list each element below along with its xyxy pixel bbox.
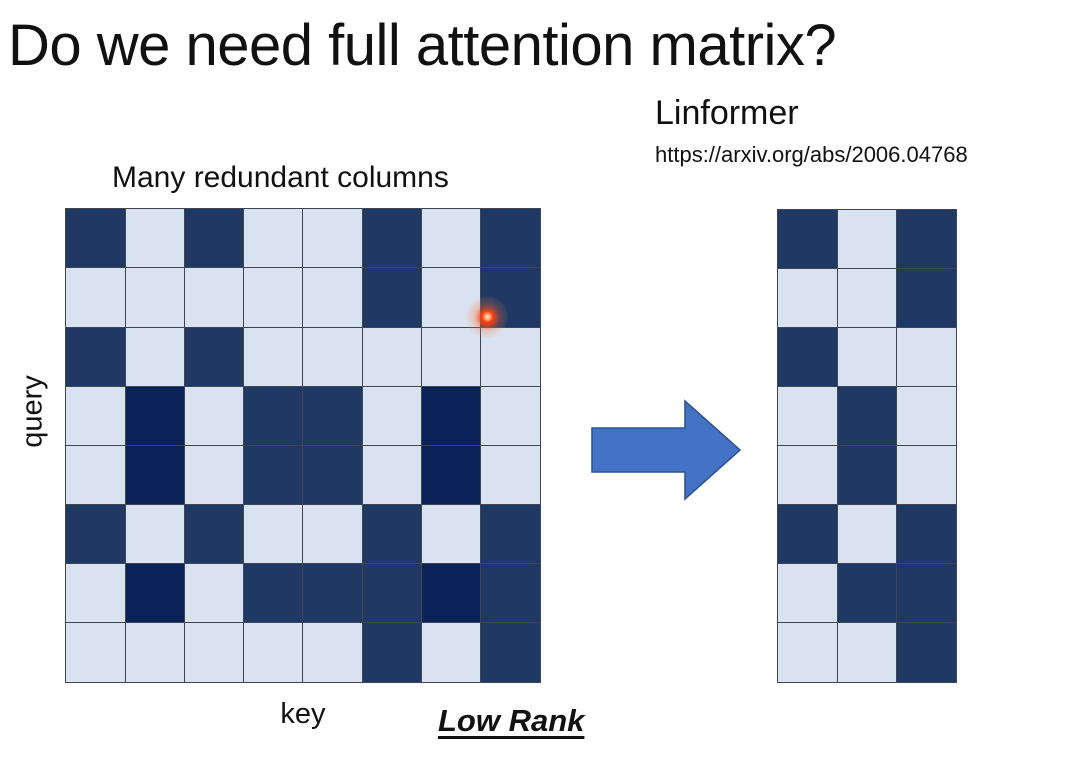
matrix-cell [125,327,186,388]
matrix-cell [896,209,957,269]
matrix-cell [896,268,957,328]
matrix-cell [302,445,363,506]
y-axis-label-query: query [17,367,50,457]
matrix-cell [184,622,245,683]
matrix-cell [302,563,363,624]
matrix-cell [65,504,126,565]
matrix-cell [243,267,304,328]
matrix-cell [184,504,245,565]
matrix-cell [777,327,838,387]
matrix-cell [243,563,304,624]
matrix-cell [302,208,363,269]
matrix-cell [243,504,304,565]
right-arrow-icon [590,398,742,502]
matrix-cell [125,267,186,328]
matrix-cell [362,327,423,388]
matrix-cell [243,327,304,388]
matrix-cell [480,445,541,506]
matrix-cell [896,504,957,564]
matrix-cell [243,208,304,269]
matrix-cell [65,386,126,447]
matrix-cell [421,386,482,447]
matrix-cell [480,386,541,447]
matrix-cell [480,622,541,683]
matrix-cell [184,208,245,269]
matrix-cell [184,327,245,388]
matrix-cell [243,386,304,447]
matrix-cell [837,504,898,564]
matrix-cell [777,504,838,564]
matrix-cell [421,563,482,624]
matrix-cell [125,504,186,565]
matrix-cell [896,563,957,623]
matrix-cell [837,445,898,505]
matrix-cell [896,622,957,682]
matrix-cell [302,622,363,683]
matrix-cell [777,386,838,446]
matrix-cell [837,386,898,446]
matrix-cell [125,563,186,624]
projected-attention-matrix [778,210,956,682]
reference-url[interactable]: https://arxiv.org/abs/2006.04768 [655,143,968,166]
matrix-cell [65,327,126,388]
matrix-cell [421,504,482,565]
matrix-cell [777,209,838,269]
matrix-cell [362,208,423,269]
matrix-cell [302,267,363,328]
matrix-cell [896,327,957,387]
matrix-cell [362,563,423,624]
matrix-cell [243,622,304,683]
matrix-cell [421,327,482,388]
matrix-cell [125,622,186,683]
matrix-cell [777,622,838,682]
matrix-cell [837,327,898,387]
matrix-cell [125,445,186,506]
matrix-cell [362,267,423,328]
matrix-cell [421,622,482,683]
matrix-cell [184,563,245,624]
matrix-cell [421,445,482,506]
matrix-cell [65,622,126,683]
matrix-cell [184,267,245,328]
matrix-cell [837,622,898,682]
matrix-cell [362,504,423,565]
matrix-cell [837,268,898,328]
matrix-cell [362,622,423,683]
matrix-cell [421,267,482,328]
low-rank-annotation: Low Rank [438,703,584,739]
matrix-cell [184,445,245,506]
matrix-cell [480,208,541,269]
matrix-cell [421,208,482,269]
full-attention-matrix [66,209,540,682]
matrix-cell [65,445,126,506]
matrix-cell [362,445,423,506]
matrix-cell [65,208,126,269]
reference-name: Linformer [655,96,799,132]
matrix-cell [480,563,541,624]
matrix-cell [302,386,363,447]
matrix-cell [480,327,541,388]
matrix-cell [896,445,957,505]
redundant-columns-caption: Many redundant columns [112,161,449,195]
matrix-cell [125,208,186,269]
matrix-cell [362,386,423,447]
matrix-cell [65,563,126,624]
matrix-cell [302,504,363,565]
matrix-cell [896,386,957,446]
page-title: Do we need full attention matrix? [8,16,836,77]
matrix-cell [480,504,541,565]
matrix-cell [837,209,898,269]
matrix-cell [65,267,126,328]
matrix-cell [184,386,245,447]
matrix-cell [777,445,838,505]
matrix-cell [777,268,838,328]
matrix-cell [480,267,541,328]
matrix-cell [302,327,363,388]
matrix-cell [243,445,304,506]
matrix-cell [837,563,898,623]
matrix-cell [125,386,186,447]
matrix-cell [777,563,838,623]
